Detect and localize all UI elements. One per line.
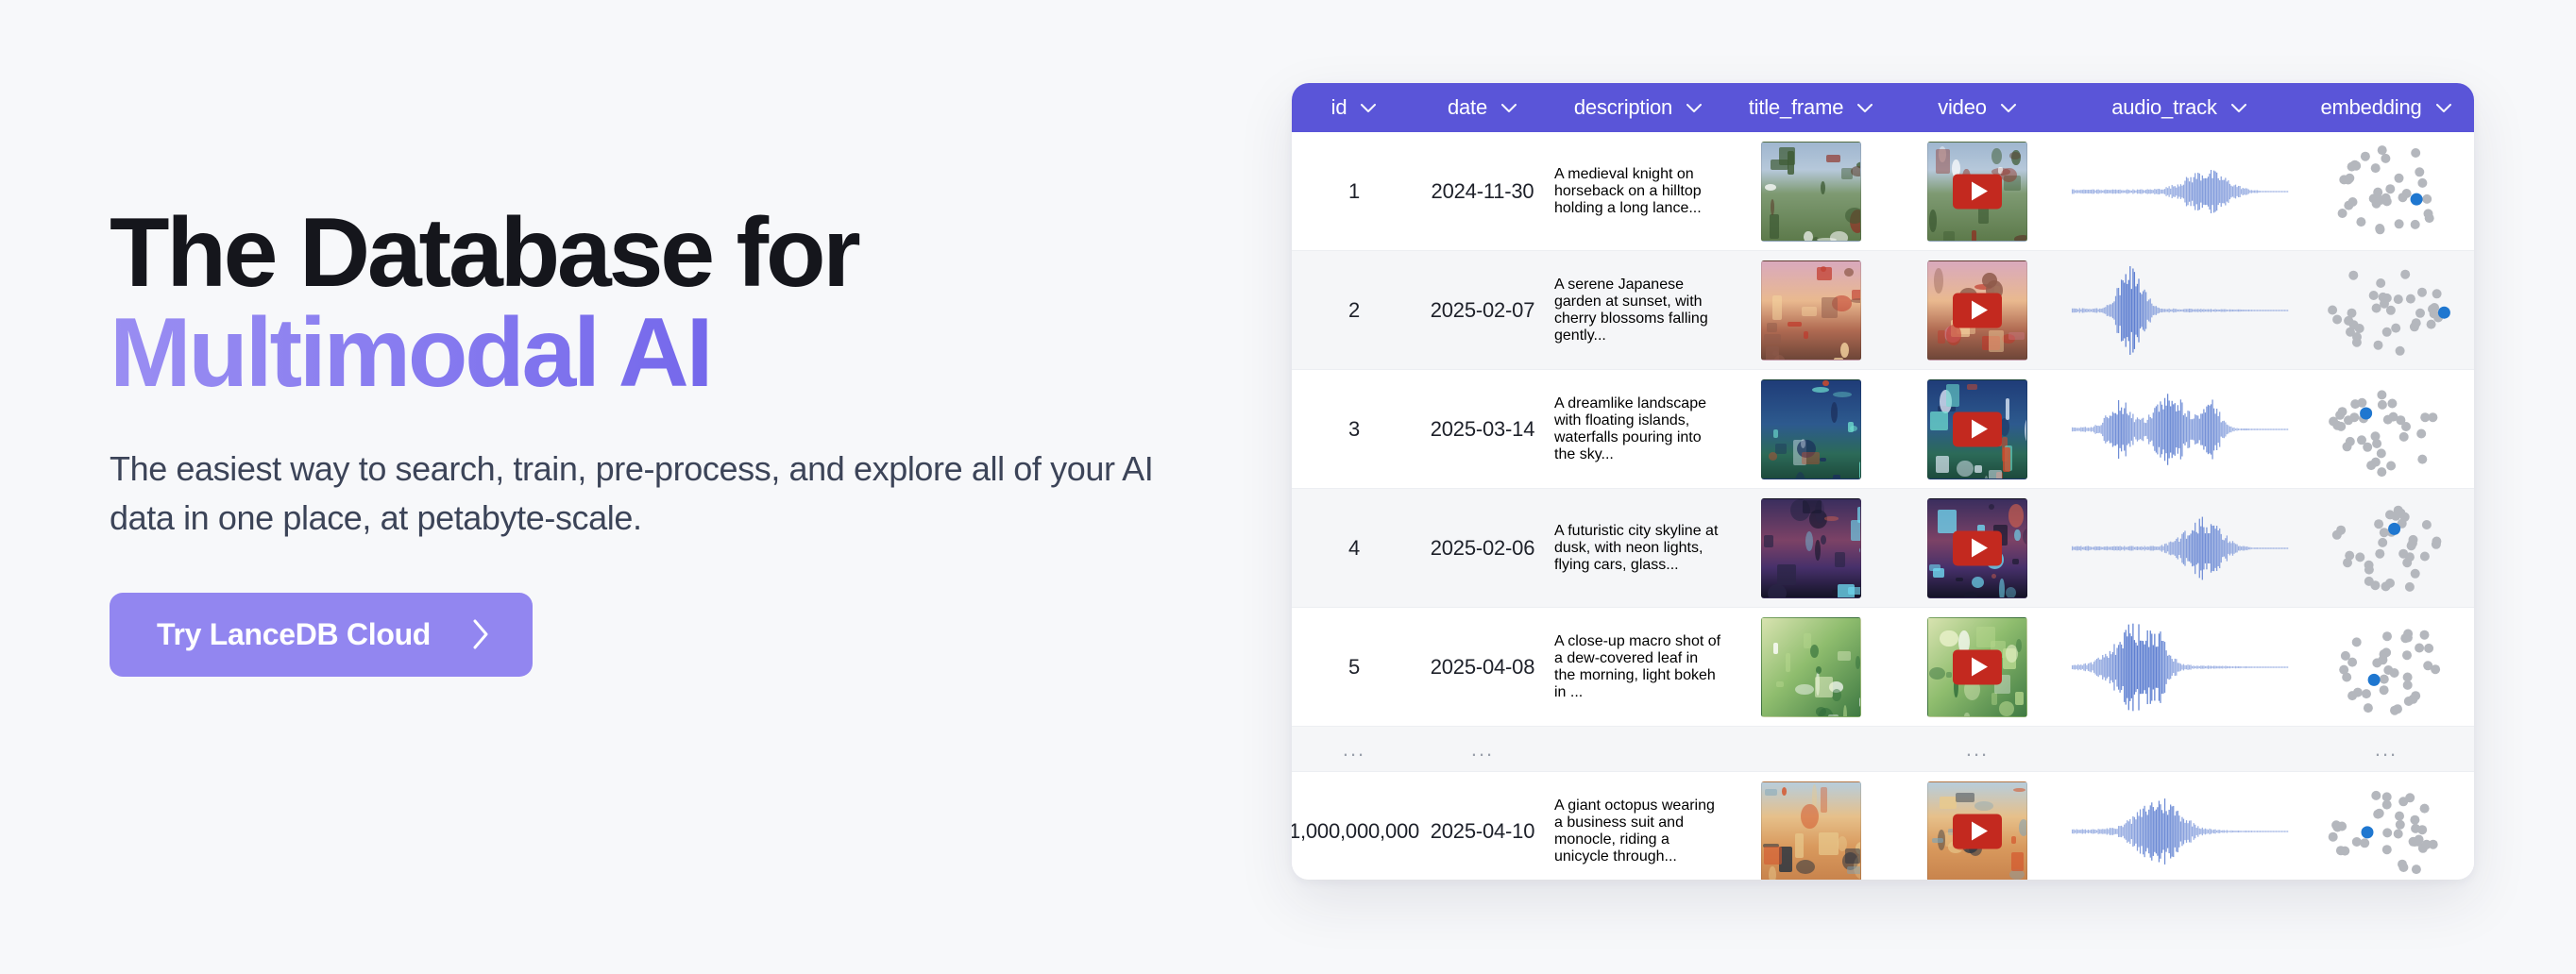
column-label: id	[1331, 95, 1347, 120]
table-row[interactable]: 22025-02-07A serene Japanese garden at s…	[1292, 251, 2474, 370]
column-header-video[interactable]: video	[1894, 83, 2060, 132]
cell-audio-track[interactable]	[2060, 251, 2298, 369]
futuristic-city-video-thumbnail	[1927, 498, 2027, 598]
cell-description: A giant octopus wearing a business suit …	[1549, 772, 1728, 880]
table-row[interactable]: 32025-03-14A dreamlike landscape with fl…	[1292, 370, 2474, 489]
cell-video[interactable]	[1894, 772, 2060, 880]
cell-embedding[interactable]	[2298, 489, 2474, 607]
cell-video[interactable]	[1894, 132, 2060, 250]
cell-date: 2025-03-14	[1416, 370, 1549, 488]
hero-section: The Database for Multimodal AI The easie…	[110, 203, 1243, 677]
octopus-unicycle-video-thumbnail	[1927, 781, 2027, 881]
futuristic-city-thumbnail	[1761, 498, 1861, 598]
page-title: The Database for Multimodal AI	[110, 203, 1243, 403]
cell-id: 2	[1292, 251, 1416, 369]
embedding-scatter	[2306, 495, 2466, 601]
knight-video-thumbnail	[1927, 142, 2027, 242]
cell-audio-ellipsis	[2060, 727, 2298, 771]
table-ellipsis-row: ............	[1292, 727, 2474, 772]
audio-waveform	[2070, 265, 2289, 356]
audio-waveform	[2070, 503, 2289, 594]
cell-title-frame[interactable]	[1728, 489, 1894, 607]
column-label: audio_track	[2111, 95, 2217, 120]
column-header-title-frame[interactable]: title_frame	[1728, 83, 1894, 132]
cell-id: 1	[1292, 132, 1416, 250]
play-button-icon[interactable]	[1953, 293, 2002, 327]
chevron-down-icon[interactable]	[2000, 103, 2017, 113]
chevron-down-icon[interactable]	[1500, 103, 1517, 113]
column-header-description[interactable]: description	[1549, 83, 1728, 132]
hero-subtitle: The easiest way to search, train, pre-pr…	[110, 445, 1177, 543]
embedding-scatter	[2306, 139, 2466, 244]
table-row[interactable]: 12024-11-30A medieval knight on horsebac…	[1292, 132, 2474, 251]
cell-id: 4	[1292, 489, 1416, 607]
cell-title-frame[interactable]	[1728, 132, 1894, 250]
cell-video[interactable]	[1894, 489, 2060, 607]
column-header-id[interactable]: id	[1292, 83, 1416, 132]
cell-date: 2025-02-07	[1416, 251, 1549, 369]
cell-title-frame[interactable]	[1728, 251, 1894, 369]
cell-title-frame[interactable]	[1728, 370, 1894, 488]
cell-embedding[interactable]	[2298, 608, 2474, 726]
cell-date: 2025-04-08	[1416, 608, 1549, 726]
column-label: date	[1448, 95, 1487, 120]
headline-line-1: The Database for	[110, 198, 858, 308]
cell-date: 2025-04-10	[1416, 772, 1549, 880]
embedding-scatter	[2306, 614, 2466, 720]
cell-title-frame[interactable]	[1728, 772, 1894, 880]
cell-embedding[interactable]	[2298, 370, 2474, 488]
dew-leaf-thumbnail	[1761, 617, 1861, 717]
dreamlike-landscape-video-thumbnail	[1927, 379, 2027, 479]
cta-label: Try LanceDB Cloud	[157, 617, 431, 652]
cell-date: 2024-11-30	[1416, 132, 1549, 250]
cell-embedding[interactable]	[2298, 772, 2474, 880]
data-table-card: id date description title_frame video au…	[1292, 83, 2474, 880]
table-header-row: id date description title_frame video au…	[1292, 83, 2474, 132]
cell-date: 2025-02-06	[1416, 489, 1549, 607]
table-body: 12024-11-30A medieval knight on horsebac…	[1292, 132, 2474, 880]
japanese-garden-thumbnail	[1761, 260, 1861, 361]
embedding-scatter	[2306, 377, 2466, 482]
dreamlike-landscape-thumbnail	[1761, 379, 1861, 479]
column-label: embedding	[2320, 95, 2421, 120]
cell-video-ellipsis: ...	[1894, 727, 2060, 771]
cell-date-ellipsis: ...	[1416, 727, 1549, 771]
cell-id: 5	[1292, 608, 1416, 726]
cell-embedding-ellipsis: ...	[2298, 727, 2474, 771]
play-button-icon[interactable]	[1953, 814, 2002, 848]
chevron-down-icon[interactable]	[1856, 103, 1873, 113]
column-label: description	[1574, 95, 1672, 120]
octopus-unicycle-thumbnail	[1761, 781, 1861, 881]
cell-embedding[interactable]	[2298, 132, 2474, 250]
column-header-audio-track[interactable]: audio_track	[2060, 83, 2298, 132]
table-row[interactable]: 42025-02-06A futuristic city skyline at …	[1292, 489, 2474, 608]
audio-waveform	[2070, 384, 2289, 475]
audio-waveform	[2070, 786, 2289, 877]
cell-description: A serene Japanese garden at sunset, with…	[1549, 251, 1728, 369]
column-header-embedding[interactable]: embedding	[2298, 83, 2474, 132]
dew-leaf-video-thumbnail	[1927, 617, 2027, 717]
cell-video[interactable]	[1894, 251, 2060, 369]
play-button-icon[interactable]	[1953, 411, 2002, 446]
try-lancedb-cloud-button[interactable]: Try LanceDB Cloud	[110, 593, 533, 677]
audio-waveform	[2070, 622, 2289, 713]
chevron-down-icon[interactable]	[1360, 103, 1377, 113]
cell-id: 1,000,000,000	[1292, 772, 1416, 880]
cell-video[interactable]	[1894, 370, 2060, 488]
chevron-down-icon[interactable]	[1686, 103, 1703, 113]
cell-audio-track[interactable]	[2060, 370, 2298, 488]
cell-video[interactable]	[1894, 608, 2060, 726]
cell-id-ellipsis: ...	[1292, 727, 1416, 771]
cell-description-ellipsis	[1549, 727, 1728, 771]
column-label: video	[1938, 95, 1987, 120]
chevron-down-icon[interactable]	[2230, 103, 2247, 113]
cell-description: A close-up macro shot of a dew-covered l…	[1549, 608, 1728, 726]
audio-waveform	[2070, 146, 2289, 237]
table-row[interactable]: 1,000,000,0002025-04-10A giant octopus w…	[1292, 772, 2474, 880]
cell-audio-track[interactable]	[2060, 132, 2298, 250]
cell-audio-track[interactable]	[2060, 489, 2298, 607]
cell-audio-track[interactable]	[2060, 772, 2298, 880]
cell-audio-track[interactable]	[2060, 608, 2298, 726]
cell-description: A futuristic city skyline at dusk, with …	[1549, 489, 1728, 607]
embedding-scatter	[2306, 258, 2466, 363]
headline-line-2: Multimodal AI	[110, 303, 1243, 403]
japanese-garden-video-thumbnail	[1927, 260, 2027, 361]
play-button-icon[interactable]	[1953, 174, 2002, 209]
cell-id: 3	[1292, 370, 1416, 488]
knight-on-horseback-thumbnail	[1761, 142, 1861, 242]
cell-description: A dreamlike landscape with floating isla…	[1549, 370, 1728, 488]
column-header-date[interactable]: date	[1416, 83, 1549, 132]
cell-embedding[interactable]	[2298, 251, 2474, 369]
embedding-scatter	[2306, 779, 2466, 881]
cell-title-frame[interactable]	[1728, 608, 1894, 726]
play-button-icon[interactable]	[1953, 649, 2002, 684]
table-row[interactable]: 52025-04-08A close-up macro shot of a de…	[1292, 608, 2474, 727]
cell-title-frame-ellipsis	[1728, 727, 1894, 771]
chevron-down-icon[interactable]	[2435, 103, 2452, 113]
cell-description: A medieval knight on horseback on a hill…	[1549, 132, 1728, 250]
play-button-icon[interactable]	[1953, 530, 2002, 565]
chevron-right-icon	[470, 618, 491, 650]
column-label: title_frame	[1749, 95, 1844, 120]
